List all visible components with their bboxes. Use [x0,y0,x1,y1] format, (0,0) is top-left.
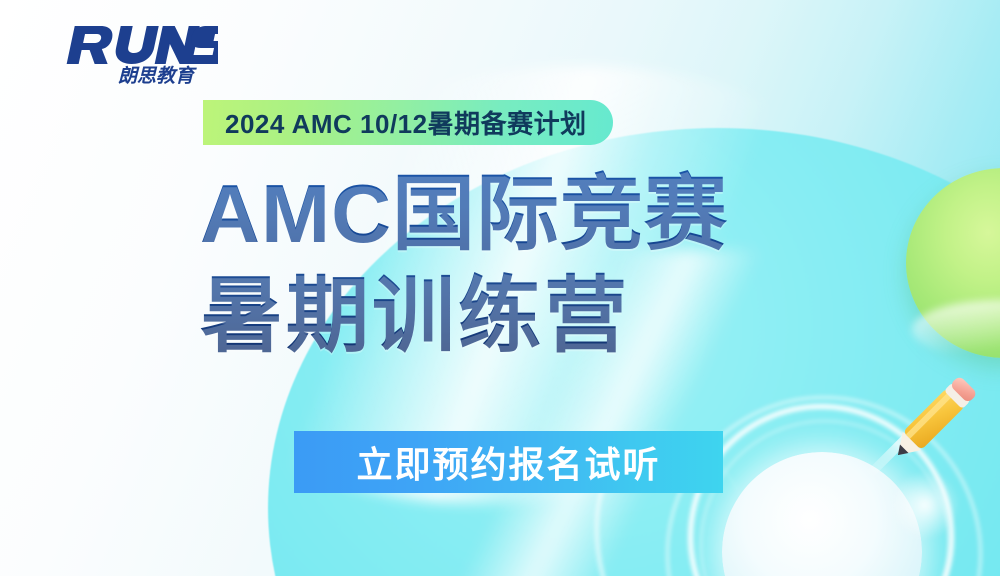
cta-button-label: 立即预约报名试听 [356,436,660,488]
brand-logo[interactable]: 朗思教育 [58,20,218,86]
sphere-glow-highlight [890,470,960,540]
cta-button[interactable]: 立即预约报名试听 [294,431,723,493]
pencil-icon [866,368,992,480]
promo-banner: 朗思教育 2024 AMC 10/12暑期备赛计划 AMC国际竞赛 暑期训练营 … [0,0,1000,576]
headline-line-1: AMC国际竞赛 [200,166,840,262]
headline-line-2: 暑期训练营 [200,268,840,364]
runs-logo-icon: 朗思教育 [58,20,218,86]
logo-subtitle: 朗思教育 [118,65,197,86]
headline-block: AMC国际竞赛 暑期训练营 [200,166,840,364]
promo-badge: 2024 AMC 10/12暑期备赛计划 [203,100,613,145]
promo-badge-label: 2024 AMC 10/12暑期备赛计划 [225,104,587,141]
